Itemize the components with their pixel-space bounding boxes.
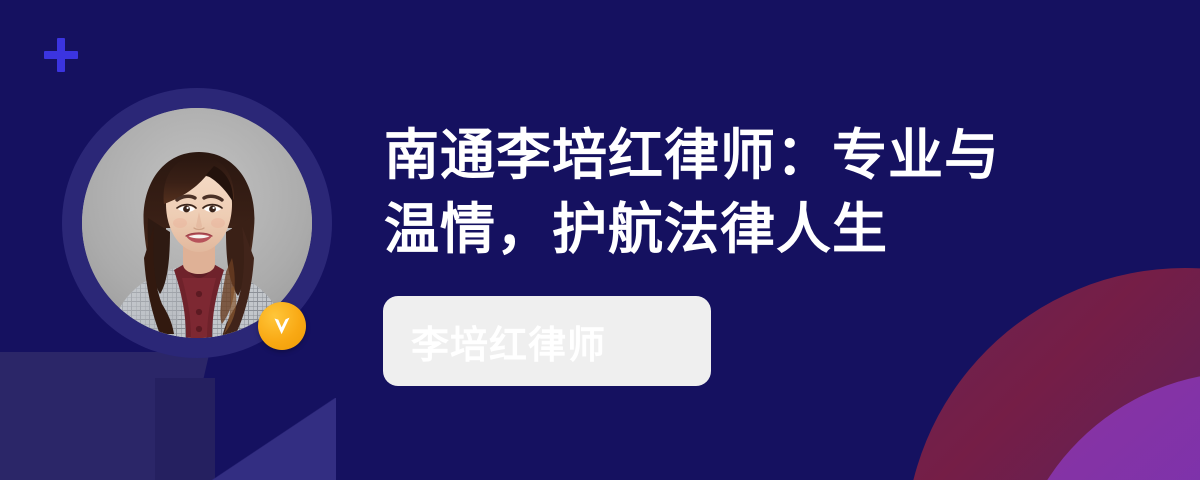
promo-banner: 南通李培红律师：专业与 温情，护航法律人生 李培红律师	[0, 0, 1200, 480]
page-title: 南通李培红律师：专业与 温情，护航法律人生	[384, 118, 1124, 266]
decorative-triangle	[186, 398, 336, 480]
plus-icon	[44, 38, 78, 72]
decorative-panel-column	[155, 378, 215, 480]
lawyer-name-button[interactable]: 李培红律师	[383, 296, 711, 386]
decorative-arc-inner	[1010, 372, 1200, 480]
verified-check-icon	[258, 302, 306, 350]
decorative-arc-outer	[905, 268, 1200, 480]
headline-block: 南通李培红律师：专业与 温情，护航法律人生	[384, 118, 1124, 266]
decorative-panel-left	[0, 352, 210, 480]
avatar	[62, 88, 332, 358]
